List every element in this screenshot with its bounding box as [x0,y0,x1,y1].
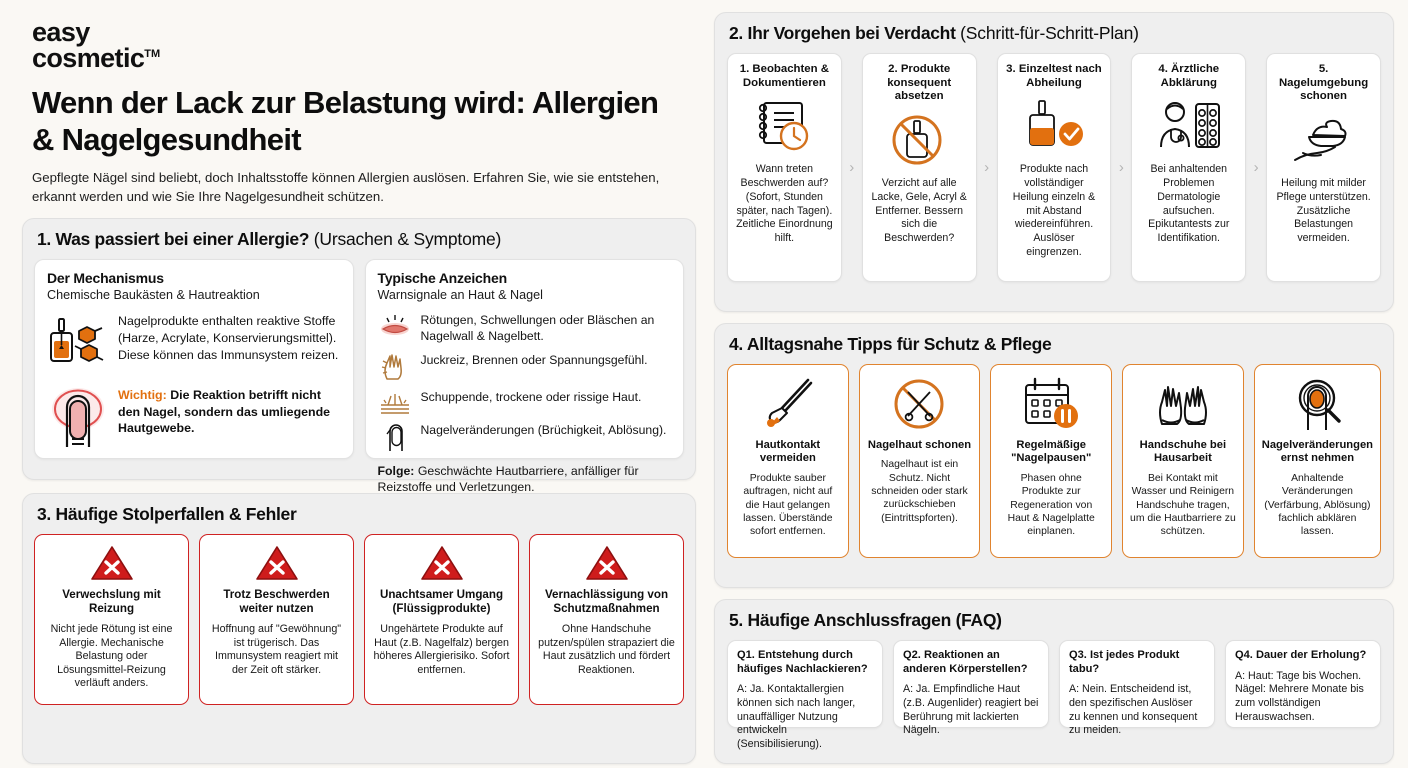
pitfall-card: Verwechslung mit Reizung Nicht jede Rötu… [34,534,189,705]
calendar-pause-icon [1019,374,1083,434]
tip-text: Produkte sauber auftragen, nicht auf die… [735,472,841,539]
doctor-patchtest-icon [1155,97,1223,155]
tip-text: Nagelhaut ist ein Schutz. Nicht schneide… [867,458,973,525]
mechanismus-subheading: Chemische Baukästen & Hautreaktion [47,288,341,302]
page-subtitle: Gepflegte Nägel sind beliebt, doch Inhal… [32,169,682,206]
pitfall-title: Verwechslung mit Reizung [42,588,181,616]
step-text: Wann treten Beschwerden auf? (Sofort, St… [736,163,833,246]
card-mechanismus: Der Mechanismus Chemische Baukästen & Ha… [34,259,354,459]
list-item: Nagelveränderungen (Brüchigkeit, Ablösun… [378,422,672,452]
step-title: 4. Ärztliche Abklärung [1140,63,1237,90]
tip-text: Bei Kontakt mit Wasser und Reinigern Han… [1130,472,1236,539]
page-title: Wenn der Lack zur Belastung wird: Allerg… [32,85,682,158]
step-card-5: 5. Nagelumgebung schonen Heilung mit mil… [1266,53,1381,282]
faq-question: Q2. Reaktionen an anderen Körperstellen? [903,649,1039,676]
section2-heading: 2. Ihr Vorgehen bei Verdacht [729,23,956,43]
itching-hand-icon [378,352,412,382]
list-item-text: Rötungen, Schwellungen oder Bläschen an … [421,312,672,345]
tip-card-3: Regelmäßige "Nagelpausen" Phasen ohne Pr… [990,364,1112,558]
pitfall-card: Vernachlässigung von Schutzmaßnahmen Ohn… [529,534,684,705]
tip-card-1: Hautkontakt vermeiden Produkte sauber au… [727,364,849,558]
tip-title: Regelmäßige "Nagelpausen" [998,439,1104,466]
faq-question: Q1. Entstehung durch häufiges Nachlackie… [737,649,873,676]
brand-logo: easy cosmeticTM [8,6,704,71]
pitfall-text: Ohne Handschuhe putzen/spülen strapazier… [537,623,676,677]
pitfall-text: Nicht jede Rötung ist eine Allergie. Mec… [42,623,181,691]
infographic-page: easy cosmeticTM Wenn der Lack zur Belast… [0,0,1408,768]
mechanismus-note-label: Wichtig: [118,388,167,402]
section-tipps: 4. Alltagsnahe Tipps für Schutz & Pflege… [714,323,1394,588]
warning-triangle-x-icon [537,544,676,582]
step-text: Heilung mit milder Pflege unterstützen. … [1275,177,1372,246]
inflamed-nail-icon [47,387,109,453]
chevron-right-icon: › [1246,53,1266,282]
list-item-text: Schuppende, trockene oder rissige Haut. [421,389,642,406]
anzeichen-conclusion-text: Geschwächte Hautbarriere, anfälliger für… [378,464,639,494]
faq-answer: A: Nein. Entscheidend ist, den spezifisc… [1069,683,1205,738]
list-item: Schuppende, trockene oder rissige Haut. [378,389,672,415]
warning-triangle-x-icon [207,544,346,582]
tip-card-2: Nagelhaut schonen Nagelhaut ist ein Schu… [859,364,981,558]
step-card-3: 3. Einzeltest nach Abheilung Produkte na… [997,53,1112,282]
step-title: 2. Produkte konsequent absetzen [871,63,968,104]
red-swollen-skin-icon [378,312,412,338]
list-item-text: Nagelveränderungen (Brüchigkeit, Ablösun… [421,422,667,439]
no-nail-polish-icon [890,111,948,169]
mechanismus-note: Wichtig: Die Reaktion betrifft nicht den… [118,387,341,437]
section1-title: 1. Was passiert bei einer Allergie? (Urs… [23,219,695,259]
list-item: Rötungen, Schwellungen oder Bläschen an … [378,312,672,345]
mechanismus-heading: Der Mechanismus [47,270,341,286]
brittle-nail-icon [378,422,412,452]
anzeichen-subheading: Warnsignale an Haut & Nagel [378,288,672,302]
hero: Wenn der Lack zur Belastung wird: Allerg… [8,71,704,206]
section2-steps: 1. Beobachten & Dokumentieren [715,53,1393,294]
card-anzeichen: Typische Anzeichen Warnsignale an Haut &… [365,259,685,459]
notebook-clock-icon [752,97,816,155]
gloves-icon [1152,374,1214,434]
section3-title: 3. Häufige Stolperfallen & Fehler [23,494,695,534]
section1-subheading: (Ursachen & Symptome) [314,229,501,249]
warning-triangle-x-icon [42,544,181,582]
step-text: Bei anhaltenden Problemen Dermatologie a… [1140,163,1237,246]
faq-answer: A: Haut: Tage bis Wochen. Nägel: Mehrere… [1235,670,1371,725]
tip-title: Hautkontakt vermeiden [735,439,841,466]
list-item-text: Juckreiz, Brennen oder Spannungsgefühl. [421,352,648,369]
tip-title: Handschuhe bei Hausarbeit [1130,439,1236,466]
pitfall-card: Unachtsamer Umgang (Flüssigprodukte) Ung… [364,534,519,705]
section-allergie-grundlagen: 1. Was passiert bei einer Allergie? (Urs… [22,218,696,480]
chevron-right-icon: › [842,53,862,282]
faq-question: Q4. Dauer der Erholung? [1235,649,1371,663]
trademark-symbol: TM [144,48,160,60]
tip-text: Phasen ohne Produkte zur Regeneration vo… [998,472,1104,539]
faq-card-1: Q1. Entstehung durch häufiges Nachlackie… [727,640,883,728]
brand-line-2: cosmeticTM [32,46,160,72]
anzeichen-conclusion-label: Folge: [378,464,415,478]
polish-bottle-check-icon [1022,97,1086,155]
tip-title: Nagelveränderungen ernst nehmen [1262,439,1373,466]
faq-card-2: Q2. Reaktionen an anderen Körperstellen?… [893,640,1049,728]
section2-subheading: (Schritt-für-Schritt-Plan) [960,23,1139,43]
hand-cream-icon [1291,111,1357,169]
pitfall-title: Trotz Beschwerden weiter nutzen [207,588,346,616]
pitfall-text: Hoffnung auf "Gewöhnung" ist trügerisch.… [207,623,346,677]
faq-answer: A: Ja. Kontaktallergien können sich nach… [737,683,873,752]
section4-title: 4. Alltagsnahe Tipps für Schutz & Pflege [715,324,1393,364]
section-faq: 5. Häufige Anschlussfragen (FAQ) Q1. Ent… [714,599,1394,764]
warning-triangle-x-icon [372,544,511,582]
list-item: Juckreiz, Brennen oder Spannungsgefühl. [378,352,672,382]
step-card-2: 2. Produkte konsequent absetzen Verzicht… [862,53,977,282]
section1-cards: Der Mechanismus Chemische Baukästen & Ha… [23,259,695,470]
section5-title: 5. Häufige Anschlussfragen (FAQ) [715,600,1393,640]
faq-card-3: Q3. Ist jedes Produkt tabu? A: Nein. Ent… [1059,640,1215,728]
step-title: 3. Einzeltest nach Abheilung [1006,63,1103,90]
brand-name: cosmetic [32,43,144,73]
step-card-1: 1. Beobachten & Dokumentieren [727,53,842,282]
faq-card-4: Q4. Dauer der Erholung? A: Haut: Tage bi… [1225,640,1381,728]
pitfall-title: Unachtsamer Umgang (Flüssigprodukte) [372,588,511,616]
section3-cards: Verwechslung mit Reizung Nicht jede Rötu… [23,534,695,716]
section5-cards: Q1. Entstehung durch häufiges Nachlackie… [715,640,1393,740]
tip-card-5: Nagelveränderungen ernst nehmen Anhalten… [1254,364,1381,558]
magnifier-nail-icon [1286,374,1348,434]
tip-title: Nagelhaut schonen [868,439,971,452]
left-column: easy cosmeticTM Wenn der Lack zur Belast… [8,6,704,764]
flaky-dry-skin-icon [378,389,412,415]
pitfall-text: Ungehärtete Produkte auf Haut (z.B. Nage… [372,623,511,677]
step-title: 1. Beobachten & Dokumentieren [736,63,833,90]
tip-card-4: Handschuhe bei Hausarbeit Bei Kontakt mi… [1122,364,1244,558]
no-cuticle-cutting-icon [891,374,949,434]
step-title: 5. Nagelumgebung schonen [1275,63,1372,104]
tip-text: Anhaltende Veränderungen (Verfärbung, Ab… [1262,472,1373,539]
step-text: Verzicht auf alle Lacke, Gele, Acryl & E… [871,177,968,246]
anzeichen-conclusion: Folge: Geschwächte Hautbarriere, anfälli… [378,463,672,496]
mechanismus-body-row: Nagelprodukte enthalten reaktive Stoffe … [47,313,341,375]
section1-heading: 1. Was passiert bei einer Allergie? [37,229,309,249]
step-card-4: 4. Ärztliche Abklärung [1131,53,1246,282]
pitfall-card: Trotz Beschwerden weiter nutzen Hoffnung… [199,534,354,705]
brush-icon [758,374,818,434]
chevron-right-icon: › [1111,53,1131,282]
section-stolperfallen: 3. Häufige Stolperfallen & Fehler Verwec… [22,493,696,764]
chevron-right-icon: › [977,53,997,282]
anzeichen-heading: Typische Anzeichen [378,270,672,286]
right-column: 2. Ihr Vorgehen bei Verdacht (Schritt-fü… [712,6,1400,764]
nail-polish-bottle-molecule-icon [47,313,109,375]
section2-title: 2. Ihr Vorgehen bei Verdacht (Schritt-fü… [715,13,1393,53]
pitfall-title: Vernachlässigung von Schutzmaßnahmen [537,588,676,616]
faq-answer: A: Ja. Empfindliche Haut (z.B. Augenlide… [903,683,1039,738]
faq-question: Q3. Ist jedes Produkt tabu? [1069,649,1205,676]
anzeichen-list: Rötungen, Schwellungen oder Bläschen an … [378,312,672,452]
step-text: Produkte nach vollständiger Heilung einz… [1006,163,1103,259]
section-vorgehen: 2. Ihr Vorgehen bei Verdacht (Schritt-fü… [714,12,1394,312]
section4-cards: Hautkontakt vermeiden Produkte sauber au… [715,364,1393,570]
mechanismus-note-row: Wichtig: Die Reaktion betrifft nicht den… [47,387,341,453]
mechanismus-body: Nagelprodukte enthalten reaktive Stoffe … [118,313,341,363]
